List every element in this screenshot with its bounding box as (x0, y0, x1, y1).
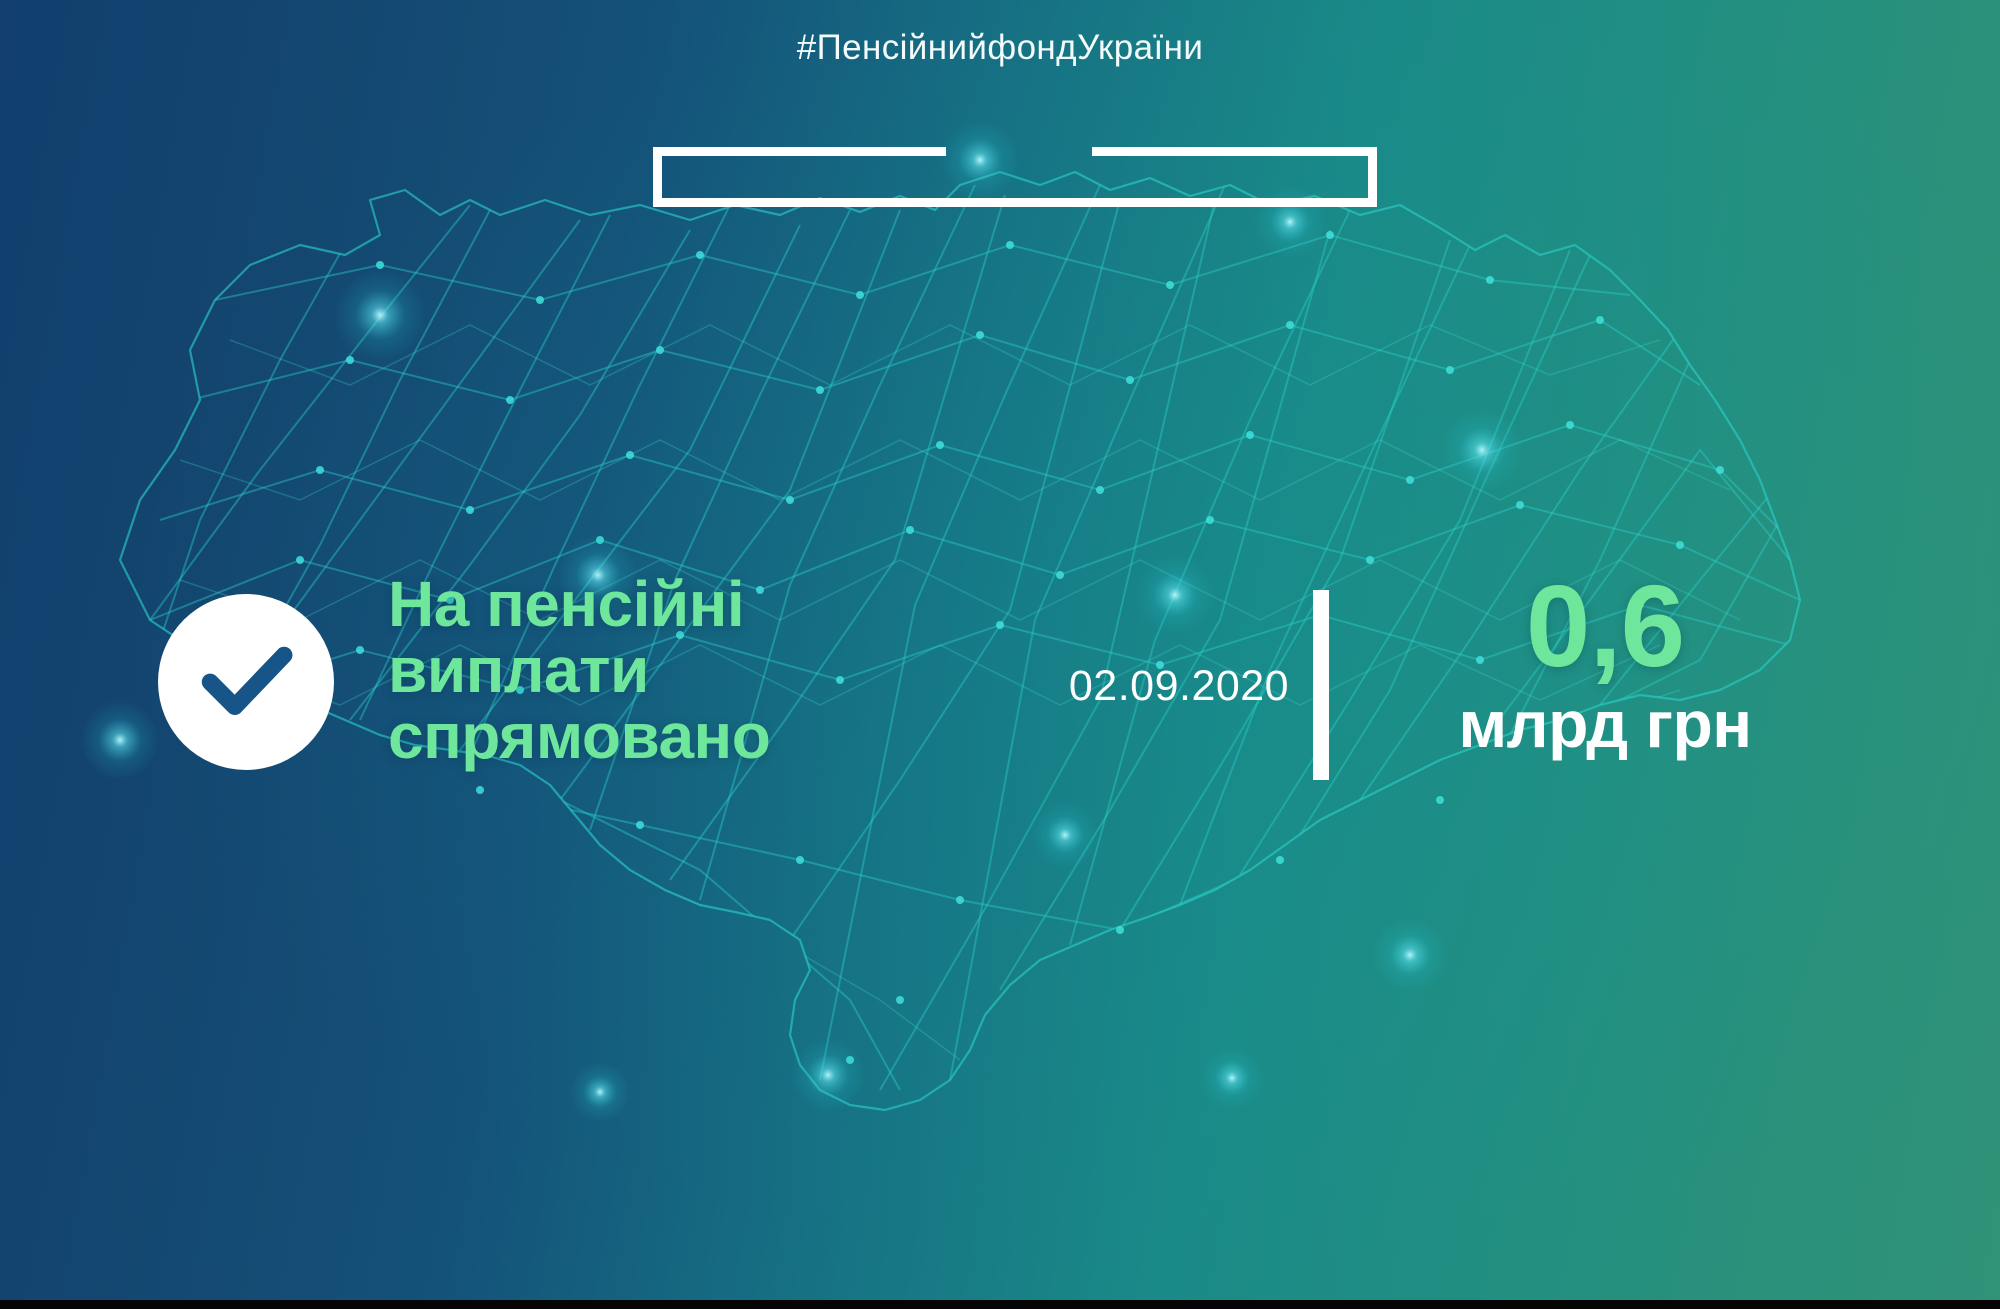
value-block: 0,6 млрд грн (1370, 568, 1840, 759)
value-number: 0,6 (1370, 568, 1840, 684)
hashtag-text: #ПенсійнийфондУкраїни (0, 28, 2000, 68)
check-mark-icon (190, 626, 302, 738)
headline: На пенсійні виплати спрямовано (388, 572, 770, 770)
bottom-black-strip (0, 1300, 2000, 1309)
date-label: 02.09.2020 (1044, 662, 1314, 711)
logo-frame-top-left-edge (653, 147, 946, 156)
logo-frame-top-right-edge (1092, 147, 1377, 156)
headline-line-2: виплати (388, 638, 770, 704)
value-unit: млрд грн (1370, 690, 1840, 759)
pension-fund-logo-frame (653, 147, 1377, 207)
main-content-row: На пенсійні виплати спрямовано 02.09.202… (0, 570, 2000, 830)
logo-frame-bottom-edge (653, 198, 1377, 207)
vertical-divider (1313, 590, 1329, 780)
headline-line-3: спрямовано (388, 704, 770, 770)
infographic-poster: #ПенсійнийфондУкраїни На пенсійні виплат… (0, 0, 2000, 1309)
headline-line-1: На пенсійні (388, 572, 770, 638)
check-circle-icon (158, 594, 334, 770)
